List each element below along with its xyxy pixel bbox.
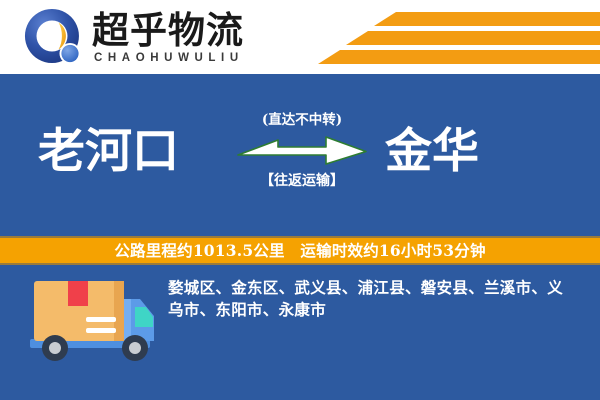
chaohu-circle-logo-icon (22, 6, 84, 68)
main-panel: 老河口 (直达不中转) 【往返运输】 金华 公路里程约1013.5公里 运输时效… (0, 74, 600, 400)
covered-districts-text: 婺城区、金东区、武义县、浦江县、磐安县、兰溪市、义乌市、东阳市、永康市 (168, 277, 578, 321)
origin-city: 老河口 (38, 126, 179, 178)
decorative-stripe-2 (346, 31, 600, 45)
logistics-route-banner: 超乎物流 CHAOHUWULIU 老河口 (直达不中转) 【往返运输】 金华 (0, 0, 600, 400)
distance-duration-bar: 公路里程约1013.5公里 运输时效约16小时53分钟 (0, 236, 600, 265)
delivery-truck-icon (22, 269, 164, 371)
route-row: 老河口 (直达不中转) 【往返运输】 金华 (0, 74, 600, 236)
direct-route-label: (直达不中转) (228, 112, 376, 129)
distance-duration-text: 公路里程约1013.5公里 运输时效约16小时53分钟 (114, 241, 485, 261)
brand-logo[interactable]: 超乎物流 CHAOHUWULIU (22, 6, 244, 68)
double-headed-arrow-icon (228, 133, 376, 167)
decorative-stripe-3 (318, 50, 600, 64)
brand-name-en: CHAOHUWULIU (94, 51, 244, 65)
route-arrow-block: (直达不中转) 【往返运输】 (228, 112, 376, 204)
coverage-area: 婺城区、金东区、武义县、浦江县、磐安县、兰溪市、义乌市、东阳市、永康市 (0, 265, 600, 400)
brand-name-cn: 超乎物流 (92, 10, 244, 50)
round-trip-label: 【往返运输】 (228, 172, 376, 190)
brand-text: 超乎物流 CHAOHUWULIU (92, 10, 244, 65)
destination-city: 金华 (385, 126, 479, 178)
header: 超乎物流 CHAOHUWULIU (0, 0, 600, 74)
decorative-stripe-1 (374, 12, 600, 26)
